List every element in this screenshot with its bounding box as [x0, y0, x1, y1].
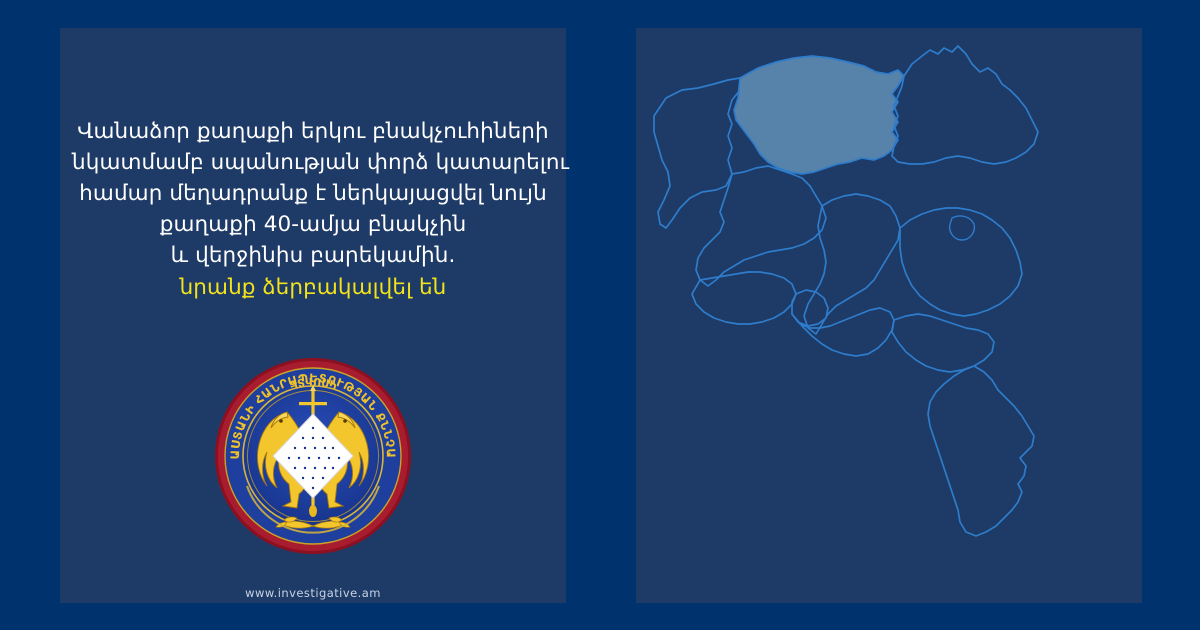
headline-text: Վանաձոր քաղաքի երկու բնակչուհիների նկատմ… — [60, 116, 566, 303]
map-feature-lake-sevan — [950, 216, 975, 240]
map-region-armavir[interactable] — [692, 272, 796, 324]
map-region-aragatsotn[interactable] — [696, 166, 826, 286]
map-region-ararat[interactable] — [792, 308, 894, 356]
right-panel — [636, 28, 1142, 603]
map-region-vayots-dzor[interactable] — [892, 314, 994, 372]
headline-line-1: Վանաձոր քաղաքի երկու բնակչուհիների — [72, 116, 554, 147]
headline-line-5: և վերջինիս բարեկամին. — [72, 240, 554, 271]
map-region-tavush[interactable] — [892, 46, 1038, 164]
map-region-kotayk[interactable] — [804, 194, 900, 334]
armenia-map — [636, 28, 1142, 603]
left-panel: Վանաձոր քաղաքի երկու բնակչուհիների նկատմ… — [60, 28, 566, 603]
headline-line-4: քաղաքի 40-ամյա բնակչին — [72, 209, 554, 240]
headline-line-3: համար մեղադրանք է ներկայացվել նույն — [72, 178, 554, 209]
headline-accent-line: նրանք ձերբակալվել են — [72, 272, 554, 303]
map-region-gegharkunik[interactable] — [900, 208, 1022, 316]
investigative-committee-emblem: ՀԱՅԱՍՏԱՆԻ ՀԱՆՐԱՊԵՏՈՒԹՅԱՆ ՔՆՆՉԱԿԱՆ ԿՈՄԻՏԵ — [213, 356, 413, 556]
map-region-lori[interactable] — [734, 56, 904, 174]
headline-line-2: նկատմամբ սպանության փորձ կատարելու — [72, 147, 554, 178]
map-region-shirak[interactable] — [654, 78, 740, 228]
site-url[interactable]: www.investigative.am — [60, 586, 566, 600]
poster-canvas: Վանաձոր քաղաքի երկու բնակչուհիների նկատմ… — [0, 0, 1200, 630]
map-region-syunik[interactable] — [928, 366, 1034, 536]
